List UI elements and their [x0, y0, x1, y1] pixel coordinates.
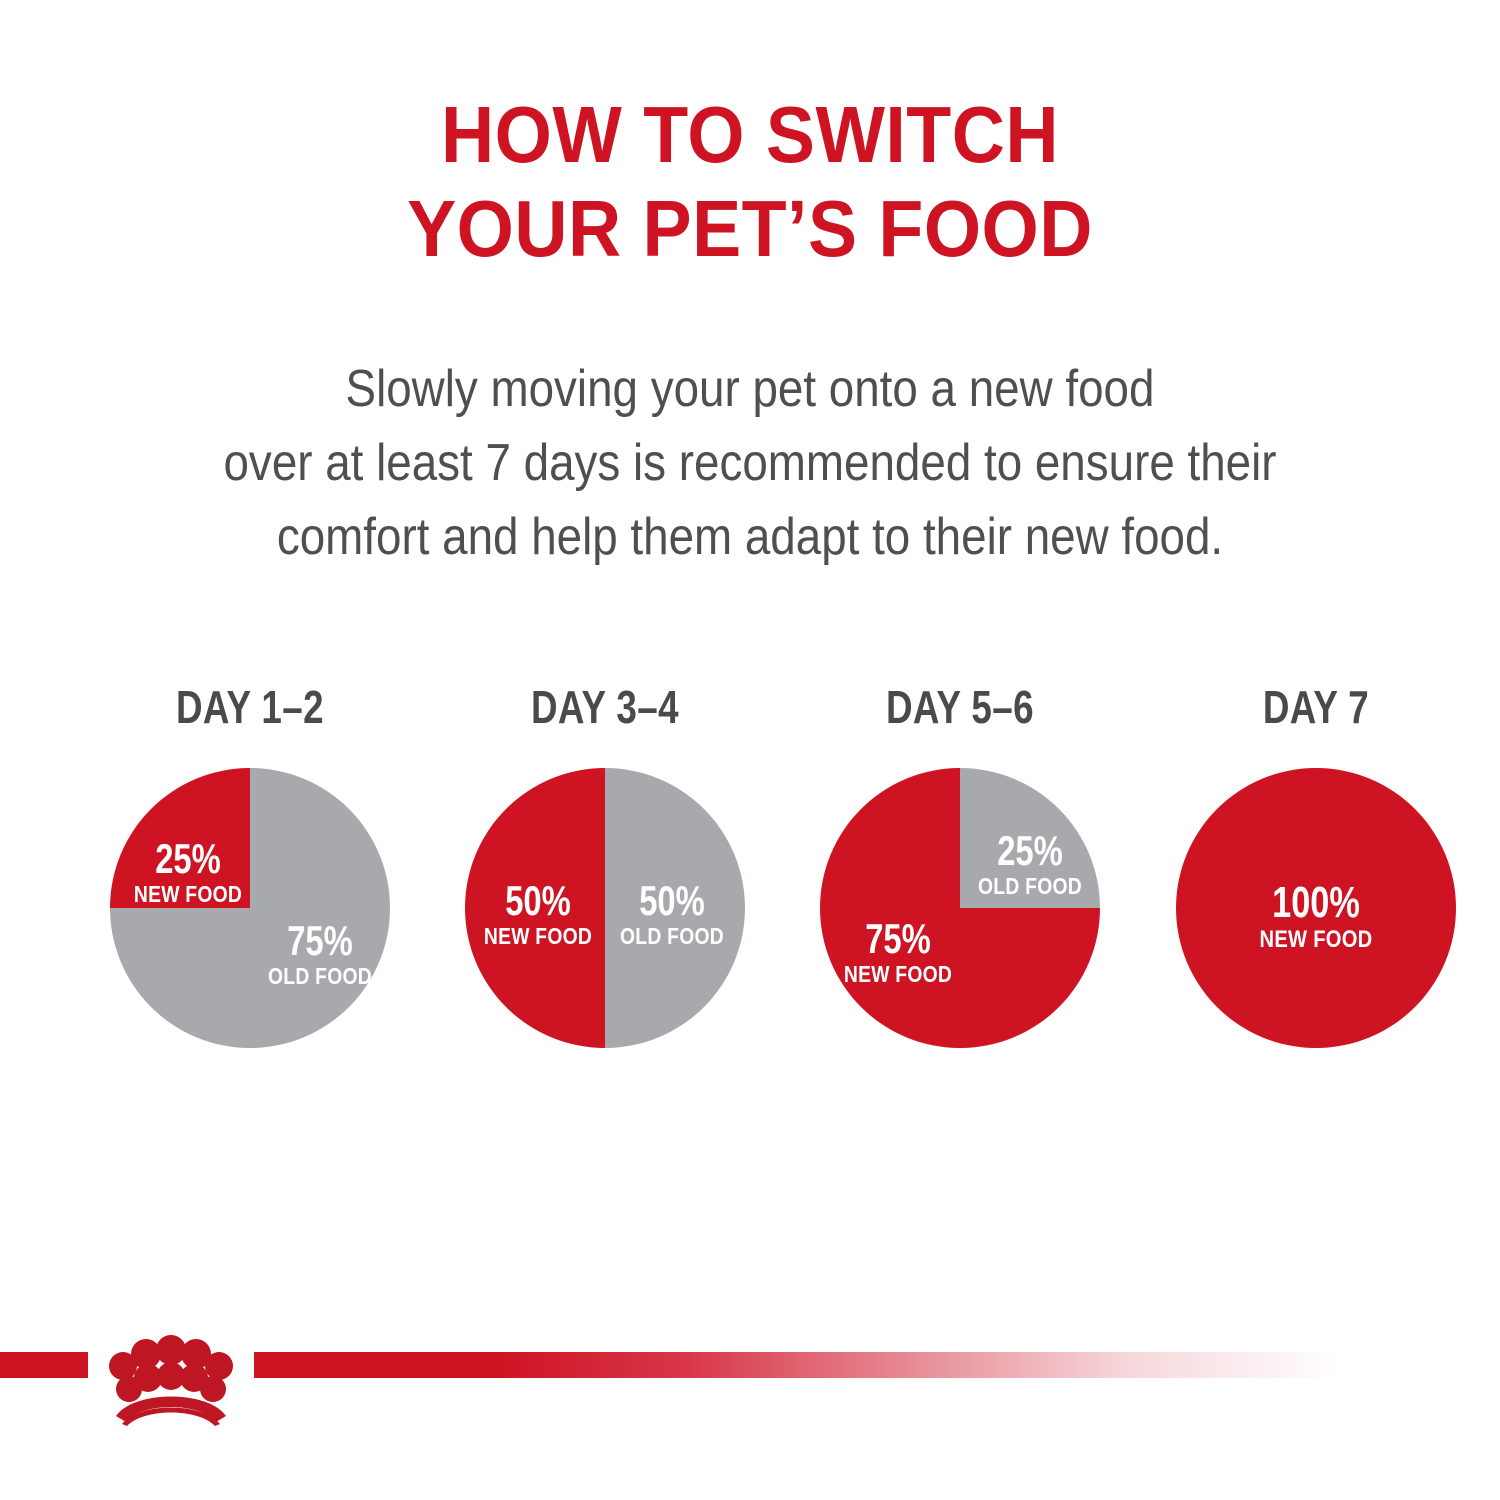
pie-svg-day-7 — [1176, 768, 1456, 1048]
pie-slice-new-food — [465, 768, 605, 1048]
pie-svg-day-1-2 — [110, 768, 390, 1048]
day-column-4: DAY 7 100% NEW FOOD — [1146, 680, 1486, 1100]
day-label-2: DAY 3–4 — [469, 680, 741, 734]
pie-chart-row: DAY 1–2 25% NEW FOOD 75% OLD FOOD — [0, 680, 1500, 1100]
day-label-4: DAY 7 — [1180, 680, 1452, 734]
intro-paragraph: Slowly moving your pet onto a new food o… — [0, 352, 1500, 574]
footer-brand-bar — [0, 1352, 1500, 1500]
footer-rule-right — [254, 1352, 1340, 1378]
pie-chart-day-3-4: 50% NEW FOOD 50% OLD FOOD — [465, 768, 745, 1048]
pie-chart-day-7: 100% NEW FOOD — [1176, 768, 1456, 1048]
intro-line-3: comfort and help them adapt to their new… — [90, 500, 1410, 574]
day-label-3: DAY 5–6 — [824, 680, 1096, 734]
pie-slice-old-food — [605, 768, 745, 1048]
pie-slice-new-food — [1176, 768, 1456, 1048]
pie-chart-day-1-2: 25% NEW FOOD 75% OLD FOOD — [110, 768, 390, 1048]
intro-line-1: Slowly moving your pet onto a new food — [90, 352, 1410, 426]
day-column-1: DAY 1–2 25% NEW FOOD 75% OLD FOOD — [80, 680, 420, 1100]
footer-rule-left — [0, 1352, 88, 1378]
page-title: HOW TO SWITCH YOUR PET’S FOOD — [0, 88, 1500, 276]
day-label-1: DAY 1–2 — [114, 680, 386, 734]
pie-svg-day-3-4 — [465, 768, 745, 1048]
day-column-3: DAY 5–6 25% OLD FOOD 75% NEW FOOD — [790, 680, 1130, 1100]
pie-slice-new-food — [110, 768, 250, 908]
day-column-2: DAY 3–4 50% NEW FOOD 50% OLD FOOD — [435, 680, 775, 1100]
page-title-line-1: HOW TO SWITCH — [60, 88, 1440, 182]
infographic-page: HOW TO SWITCH YOUR PET’S FOOD Slowly mov… — [0, 0, 1500, 1500]
page-title-line-2: YOUR PET’S FOOD — [60, 182, 1440, 276]
pie-svg-day-5-6 — [820, 768, 1100, 1048]
pie-slice-old-food — [960, 768, 1100, 908]
crown-icon — [96, 1316, 246, 1426]
pie-chart-day-5-6: 25% OLD FOOD 75% NEW FOOD — [820, 768, 1100, 1048]
intro-line-2: over at least 7 days is recommended to e… — [90, 426, 1410, 500]
royal-canin-crown-logo — [96, 1316, 246, 1426]
